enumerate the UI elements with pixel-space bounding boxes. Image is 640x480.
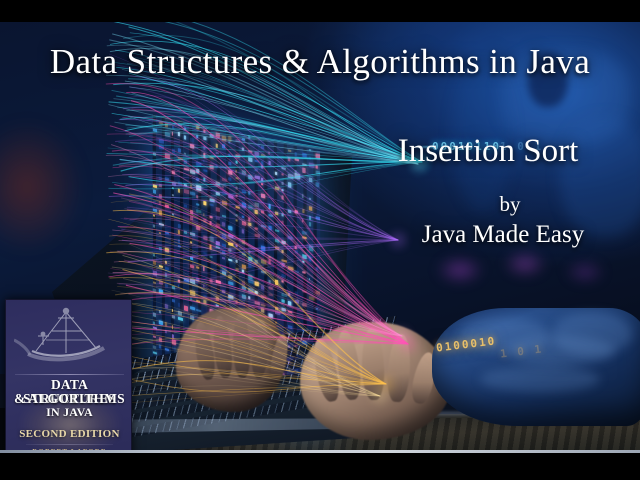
book-title-line-2: & ALGORITHMS (6, 392, 132, 406)
topic-title: Insertion Sort (336, 135, 640, 168)
sextant-illustration (14, 304, 126, 366)
book-divider-bottom (26, 444, 113, 445)
channel-name: Java Made Easy (366, 222, 640, 247)
by-label: by (410, 194, 610, 215)
book-divider-top (15, 374, 124, 375)
book-title-line-3: IN JAVA (6, 406, 132, 418)
book-edition: SECOND EDITION (6, 428, 132, 440)
main-title: Data Structures & Algorithms in Java (0, 44, 640, 79)
video-thumbnail: 00010110 1 0 1 0100010 1 0 1 (0, 0, 640, 480)
ambient-warm-glow (0, 122, 82, 252)
letterbox-top (0, 0, 640, 22)
book-cover-inset: DATA STRUCTURES & ALGORITHMS IN JAVA SEC… (5, 299, 132, 450)
letterbox-bottom (0, 453, 640, 480)
